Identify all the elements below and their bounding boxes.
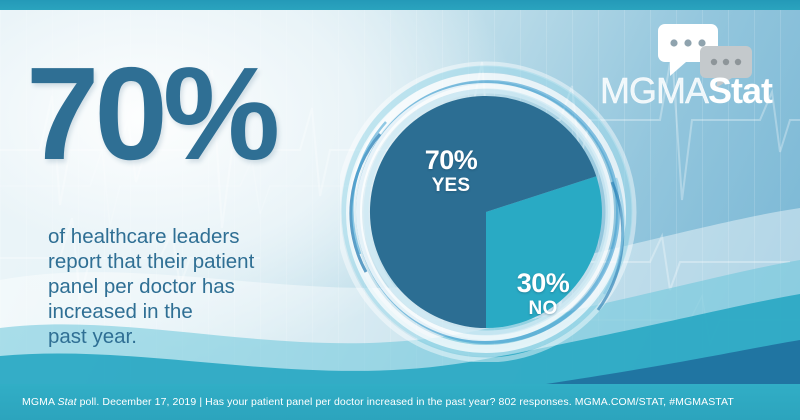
pie-label-no-category: NO: [493, 299, 593, 318]
footer-prefix: MGMA: [22, 396, 58, 408]
body-line: past year.: [48, 324, 316, 349]
body-line: panel per doctor has: [48, 274, 316, 299]
footer-italic-word: Stat: [58, 396, 77, 408]
pie-chart: 70% YES 30% NO: [340, 42, 640, 362]
pie-label-yes-value: 70%: [396, 147, 506, 175]
top-accent-bar: [0, 0, 800, 10]
pie-chart-svg: [340, 42, 640, 362]
pie-label-yes: 70% YES: [396, 147, 506, 195]
infographic-canvas: 70% of healthcare leaders report that th…: [0, 0, 800, 420]
body-line: of healthcare leaders: [48, 224, 316, 249]
body-line: increased in the: [48, 299, 316, 324]
footer-source-text: MGMA Stat poll. December 17, 2019 | Has …: [0, 396, 734, 408]
pie-label-no-value: 30%: [493, 270, 593, 298]
footer-bar: MGMA Stat poll. December 17, 2019 | Has …: [0, 384, 800, 420]
pie-label-yes-category: YES: [396, 176, 506, 195]
logo-brand-secondary: Stat: [708, 70, 772, 111]
pie-label-no: 30% NO: [493, 270, 593, 318]
headline-body-copy: of healthcare leaders report that their …: [48, 224, 316, 349]
footer-suffix: poll. December 17, 2019 | Has your patie…: [77, 396, 734, 408]
headline-stat: 70%: [26, 48, 275, 180]
body-line: report that their patient: [48, 249, 316, 274]
